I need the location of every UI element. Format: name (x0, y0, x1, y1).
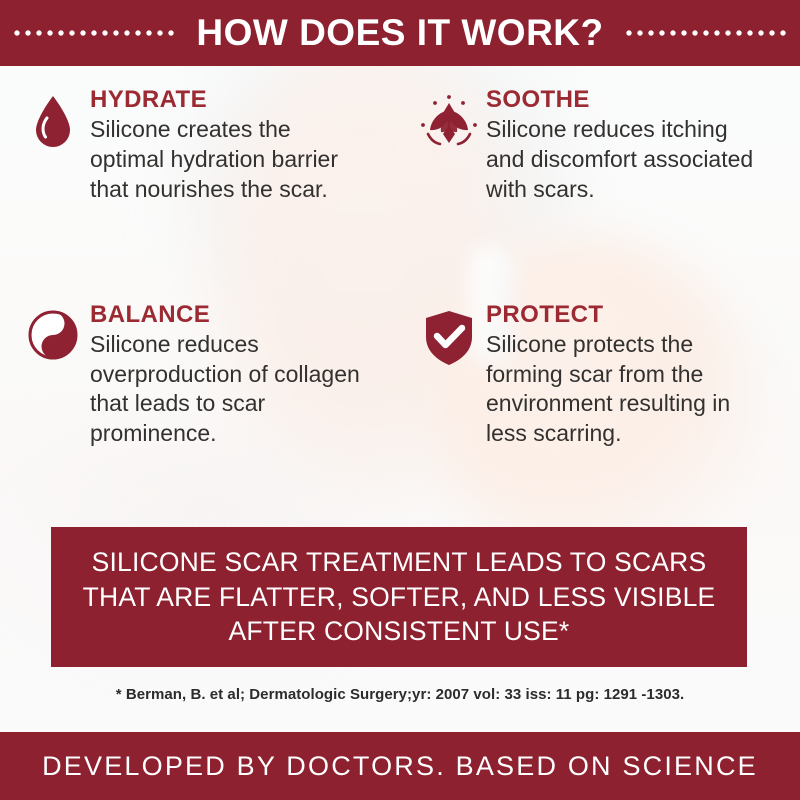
feature-title: PROTECT (486, 301, 800, 329)
feature-hydrate: HYDRATE Silicone creates the optimal hyd… (0, 86, 400, 205)
dotted-line-icon (14, 30, 174, 36)
yin-yang-icon (22, 301, 84, 361)
feature-protect: PROTECT Silicone protects the forming sc… (400, 301, 800, 450)
claim-banner-text: SILICONE SCAR TREATMENT LEADS TO SCARS T… (69, 545, 729, 648)
feature-body: Silicone protects the forming scar from … (486, 330, 771, 450)
feature-title: BALANCE (90, 301, 400, 329)
header-bar-inner: HOW DOES IT WORK? (0, 12, 800, 54)
feature-title: SOOTHE (486, 86, 800, 114)
feature-title: HYDRATE (90, 86, 400, 114)
feature-text: PROTECT Silicone protects the forming sc… (480, 301, 800, 450)
feature-body: Silicone creates the optimal hydration b… (90, 115, 365, 205)
feature-body: Silicone reduces overproduction of colla… (90, 330, 365, 450)
header-bar: HOW DOES IT WORK? (0, 0, 800, 66)
feature-soothe: SOOTHE Silicone reduces itching and disc… (400, 86, 800, 205)
shield-check-icon (418, 301, 480, 367)
feature-row-2: BALANCE Silicone reduces overproduction … (0, 301, 800, 450)
water-droplet-icon (22, 86, 84, 150)
footer-tagline: DEVELOPED BY DOCTORS. BASED ON SCIENCE (42, 751, 758, 782)
feature-body: Silicone reduces itching and discomfort … (486, 115, 771, 205)
footer-bar: DEVELOPED BY DOCTORS. BASED ON SCIENCE (0, 732, 800, 800)
feature-text: SOOTHE Silicone reduces itching and disc… (480, 86, 800, 205)
citation-text: * Berman, B. et al; Dermatologic Surgery… (0, 686, 800, 703)
feature-text: HYDRATE Silicone creates the optimal hyd… (84, 86, 400, 205)
claim-banner: SILICONE SCAR TREATMENT LEADS TO SCARS T… (51, 527, 747, 667)
feature-text: BALANCE Silicone reduces overproduction … (84, 301, 400, 450)
lotus-flower-icon (418, 86, 480, 150)
feature-grid: HYDRATE Silicone creates the optimal hyd… (0, 86, 800, 449)
dotted-line-icon (626, 30, 786, 36)
feature-balance: BALANCE Silicone reduces overproduction … (0, 301, 400, 450)
feature-row-1: HYDRATE Silicone creates the optimal hyd… (0, 86, 800, 205)
infographic-poster: HOW DOES IT WORK? HYDRATE Silicone creat… (0, 0, 800, 800)
page-title: HOW DOES IT WORK? (196, 12, 603, 54)
